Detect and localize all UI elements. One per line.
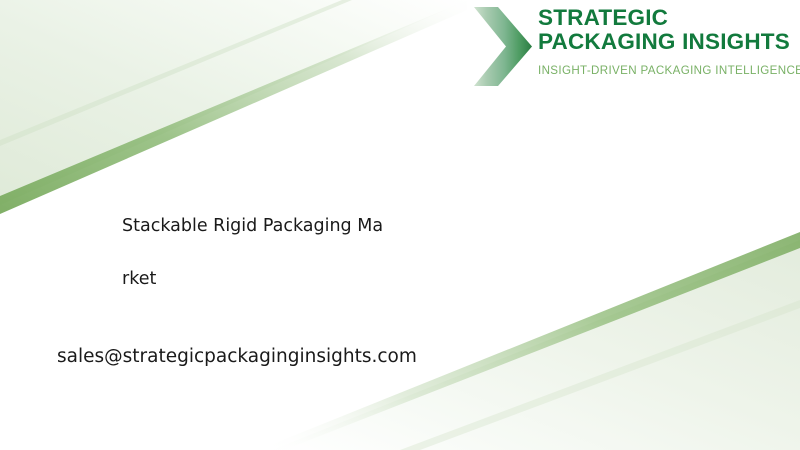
page-title-line-1: Stackable Rigid Packaging Ma bbox=[122, 218, 642, 236]
top-left-wedge-edge bbox=[0, 0, 490, 214]
logo-wordmark: STRATEGIC PACKAGING INSIGHTS INSIGHT-DRI… bbox=[538, 6, 796, 77]
brand-logo: STRATEGIC PACKAGING INSIGHTS INSIGHT-DRI… bbox=[467, 0, 800, 92]
slide-canvas: STRATEGIC PACKAGING INSIGHTS INSIGHT-DRI… bbox=[0, 0, 800, 450]
logo-line-1: STRATEGIC bbox=[538, 6, 796, 30]
logo-line-2: PACKAGING INSIGHTS bbox=[538, 30, 796, 54]
bottom-right-wedge-inner-line bbox=[400, 300, 800, 450]
contact-info: sales@strategicpackaginginsights.com bbox=[57, 348, 657, 367]
chevron-right-icon bbox=[472, 7, 534, 86]
logo-tagline: INSIGHT-DRIVEN PACKAGING INTELLIGENCE bbox=[538, 64, 796, 77]
page-title-line-2: rket bbox=[122, 271, 642, 289]
top-left-wedge-inner-line bbox=[0, 0, 352, 146]
top-left-wedge-fill bbox=[0, 0, 468, 205]
contact-email-address[interactable]: sales@strategicpackaginginsights.com bbox=[57, 348, 657, 367]
page-title: Stackable Rigid Packaging Ma rket bbox=[122, 218, 642, 288]
